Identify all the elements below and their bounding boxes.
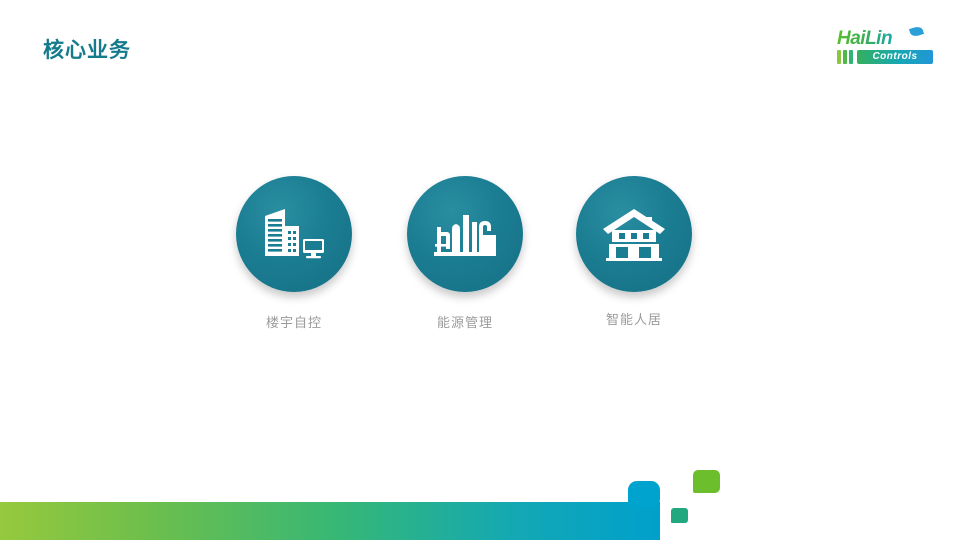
service-label-smart-home: 智能人居 (554, 309, 714, 328)
logo-subtitle-block: Controls (837, 50, 933, 64)
service-circle-building-automation[interactable] (236, 176, 352, 292)
page-title: 核心业务 (43, 40, 131, 61)
footer-gradient-bar (0, 502, 660, 540)
service-label-energy-management: 能源管理 (385, 312, 545, 331)
footer-accent-square-small (671, 508, 688, 523)
service-circle-energy-management[interactable] (407, 176, 523, 292)
service-item-smart-home[interactable]: 智能人居 (554, 176, 714, 328)
core-business-group: 楼宇自控 (0, 176, 960, 346)
service-circle-smart-home[interactable] (576, 176, 692, 292)
logo-bar-2 (843, 50, 847, 64)
service-item-energy-management[interactable]: 能源管理 (385, 176, 545, 331)
service-label-building-automation: 楼宇自控 (214, 312, 374, 331)
logo-bar-3 (849, 50, 853, 64)
industrial-plant-icon (432, 205, 498, 263)
slide-canvas: 核心业务 HaiLin Controls (0, 0, 960, 540)
footer-accent-square-green (693, 470, 720, 493)
logo-bar-1 (837, 50, 841, 64)
brand-logo: HaiLin Controls (837, 28, 933, 66)
house-home-icon (602, 206, 666, 262)
footer-step-shape (628, 481, 660, 508)
service-item-building-automation[interactable]: 楼宇自控 (214, 176, 374, 331)
office-buildings-monitor-icon (261, 204, 327, 264)
logo-subtitle-text: Controls (857, 50, 933, 64)
